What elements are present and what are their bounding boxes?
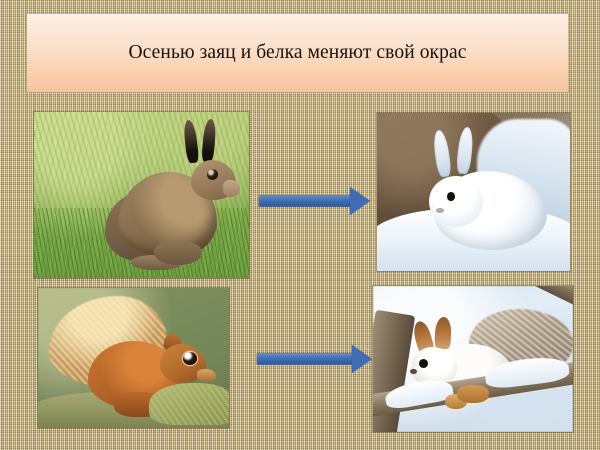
white-hare-eye xyxy=(447,192,455,201)
arrow-shaft xyxy=(259,196,353,207)
photo-hare-summer xyxy=(34,112,249,278)
slide-canvas: Осенью заяц и белка меняют свой окрас xyxy=(0,0,600,450)
white-hare-head xyxy=(429,176,483,227)
white-hare-nose xyxy=(436,208,444,213)
hare-foreleg xyxy=(154,241,201,264)
photo-squirrel-summer xyxy=(38,288,229,428)
page-title: Осенью заяц и белка меняют свой окрас xyxy=(129,42,467,64)
squirrel-snout xyxy=(197,369,216,382)
winter-squirrel-ear-tuft-right xyxy=(434,316,451,349)
photo-hare-winter xyxy=(377,113,570,271)
title-box: Осенью заяц и белка меняют свой окрас xyxy=(27,14,568,92)
hare-eye xyxy=(207,169,218,180)
arrow-squirrel xyxy=(257,345,372,373)
squirrel-eye xyxy=(183,352,196,365)
arrow-hare xyxy=(259,187,370,215)
photo-squirrel-winter xyxy=(373,286,573,432)
winter-squirrel-paws xyxy=(457,385,489,403)
arrow-head-icon xyxy=(350,187,370,215)
arrow-head-icon xyxy=(352,345,372,373)
arrow-shaft xyxy=(257,354,355,365)
moss-patch xyxy=(149,383,229,425)
hare-muzzle xyxy=(223,180,240,197)
